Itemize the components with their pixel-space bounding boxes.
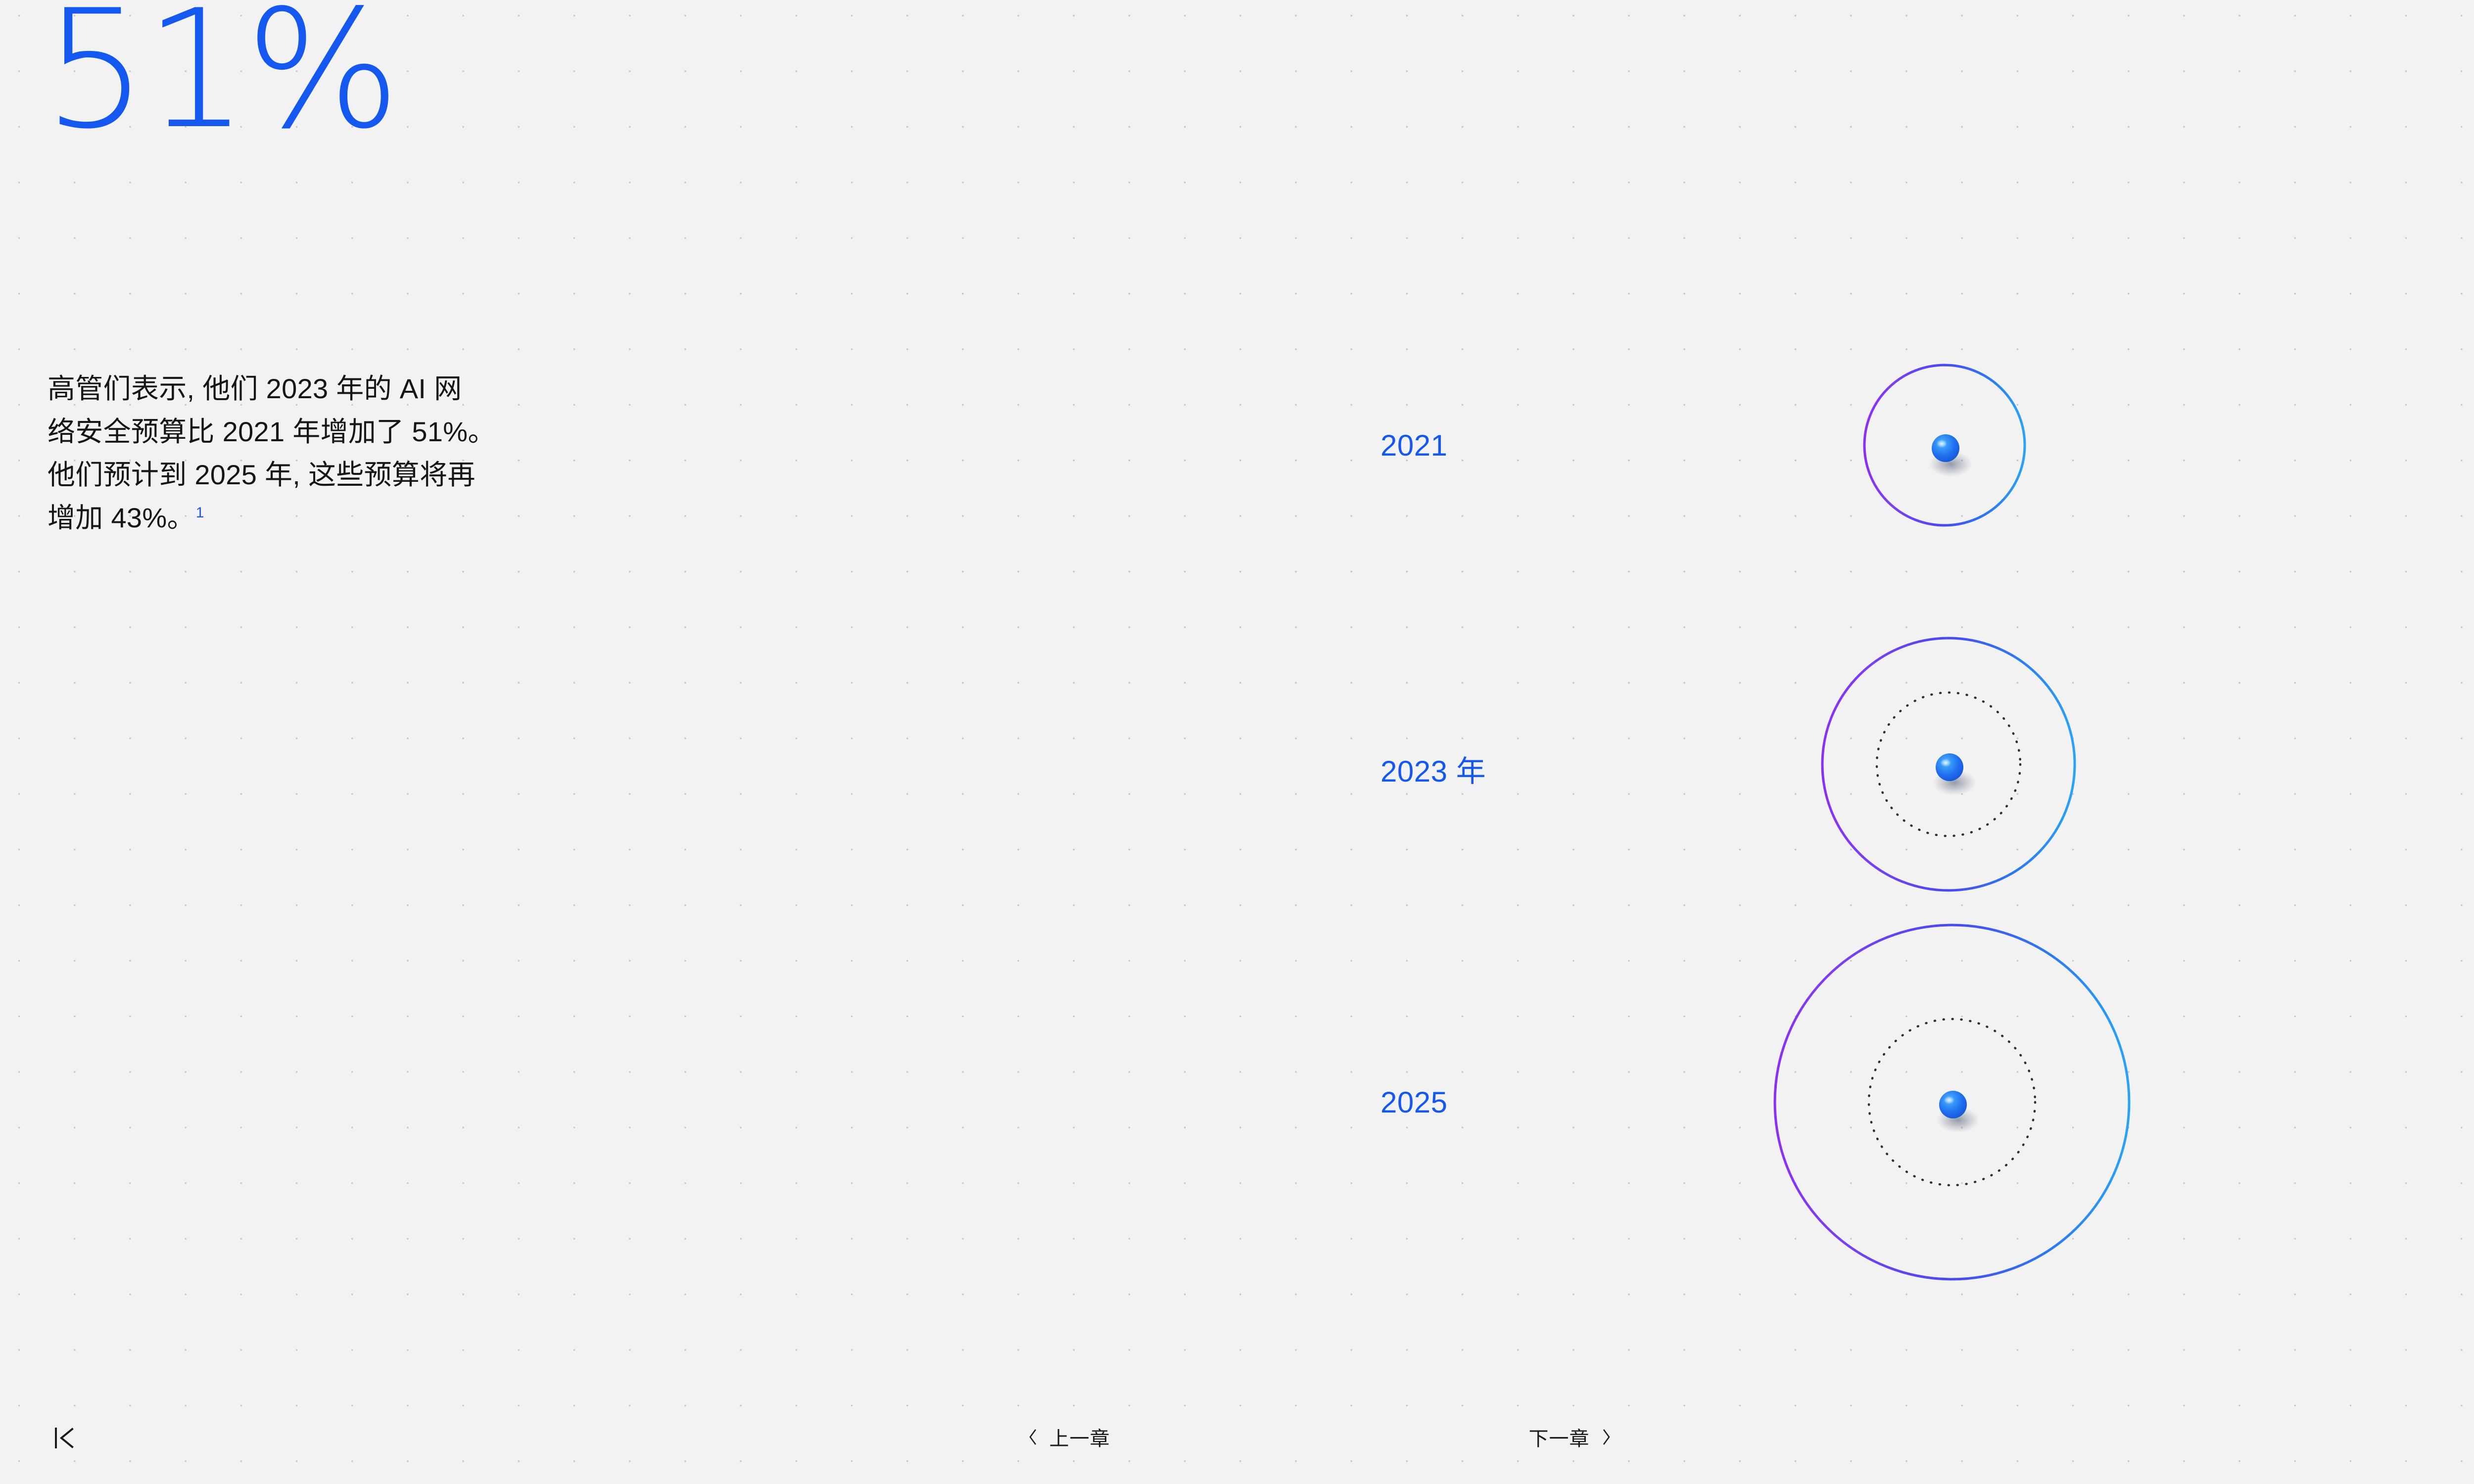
- chapter-nav: 上一章 下一章: [1028, 1423, 1612, 1451]
- slide-canvas: [0, 0, 2474, 1484]
- chevron-right-icon: [1601, 1428, 1612, 1446]
- bubble-label-2021[interactable]: 2021: [1380, 428, 1447, 463]
- body-line-4: 增加 43%。: [48, 502, 195, 533]
- bubble-label-2023[interactable]: 2023 年: [1380, 747, 1486, 790]
- body-paragraph: 高管们表示, 他们 2023 年的 AI 网 络安全预算比 2021 年增加了 …: [48, 367, 859, 539]
- skip-to-start-icon[interactable]: [53, 1425, 76, 1451]
- chevron-left-icon: [1028, 1428, 1039, 1446]
- next-chapter-button[interactable]: 下一章: [1529, 1423, 1612, 1451]
- bubble-label-2025[interactable]: 2025: [1380, 1085, 1447, 1119]
- footnote-marker[interactable]: 1: [196, 505, 204, 521]
- prev-chapter-label: 上一章: [1049, 1423, 1110, 1451]
- body-line-2: 络安全预算比 2021 年增加了 51%。: [48, 416, 496, 447]
- footer-bar: 上一章 下一章 8: [0, 1400, 2474, 1484]
- next-chapter-label: 下一章: [1529, 1423, 1590, 1451]
- body-line-1: 高管们表示, 他们 2023 年的 AI 网: [48, 373, 462, 404]
- stat-headline: 51%: [44, 0, 397, 151]
- body-line-3: 他们预计到 2025 年, 这些预算将再: [48, 459, 476, 490]
- prev-chapter-button[interactable]: 上一章: [1028, 1423, 1110, 1451]
